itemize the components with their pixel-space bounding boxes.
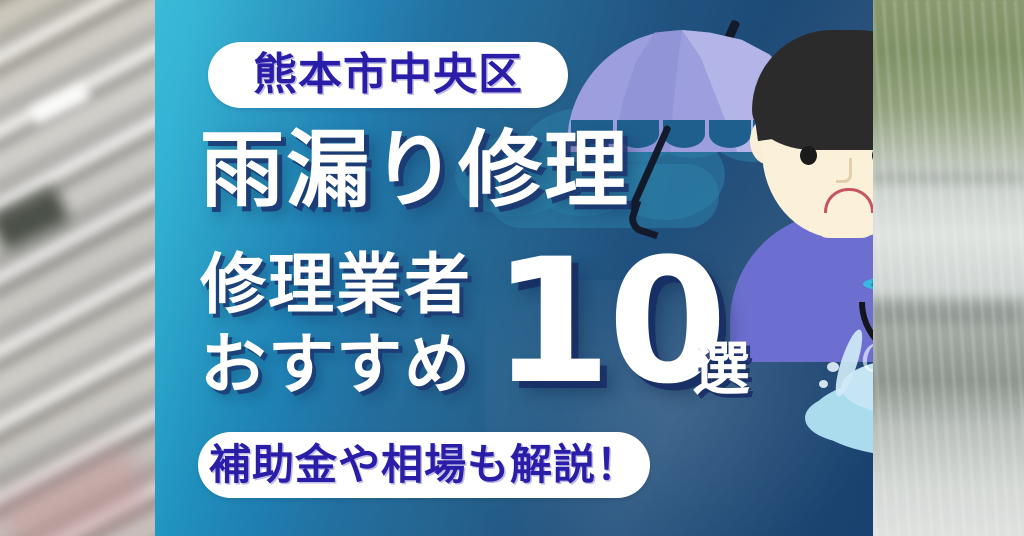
subsidy-badge: 補助金や相場も解説！ — [198, 432, 650, 498]
banner-canvas: Canva 熊本市中央区 雨漏り修理 修理業者 おすすめ 10 選 補助金や相場… — [0, 0, 1024, 536]
rain-streaks — [868, 0, 1024, 536]
bucket-and-puddle: Canva — [805, 270, 873, 470]
water-splash-b — [819, 380, 828, 388]
person-nose — [836, 158, 852, 183]
subtitle-line-1: 修理業者 — [200, 252, 472, 318]
subsidy-badge-label: 補助金や相場も解説！ — [209, 444, 639, 486]
page-title: 雨漏り修理 — [200, 128, 630, 212]
location-badge: 熊本市中央区 — [208, 42, 568, 108]
count-suffix: 選 — [692, 340, 750, 398]
count-number: 10 — [492, 236, 723, 408]
subtitle-line-2: おすすめ — [200, 332, 472, 398]
roof-tiles-photo — [0, 0, 177, 536]
person-eye-left — [800, 146, 817, 165]
water-splash-a — [827, 362, 839, 372]
location-badge-label: 熊本市中央区 — [253, 53, 523, 97]
center-blue-panel: Canva 熊本市中央区 雨漏り修理 修理業者 おすすめ 10 選 補助金や相場… — [155, 0, 873, 536]
canva-watermark: Canva — [861, 336, 873, 380]
